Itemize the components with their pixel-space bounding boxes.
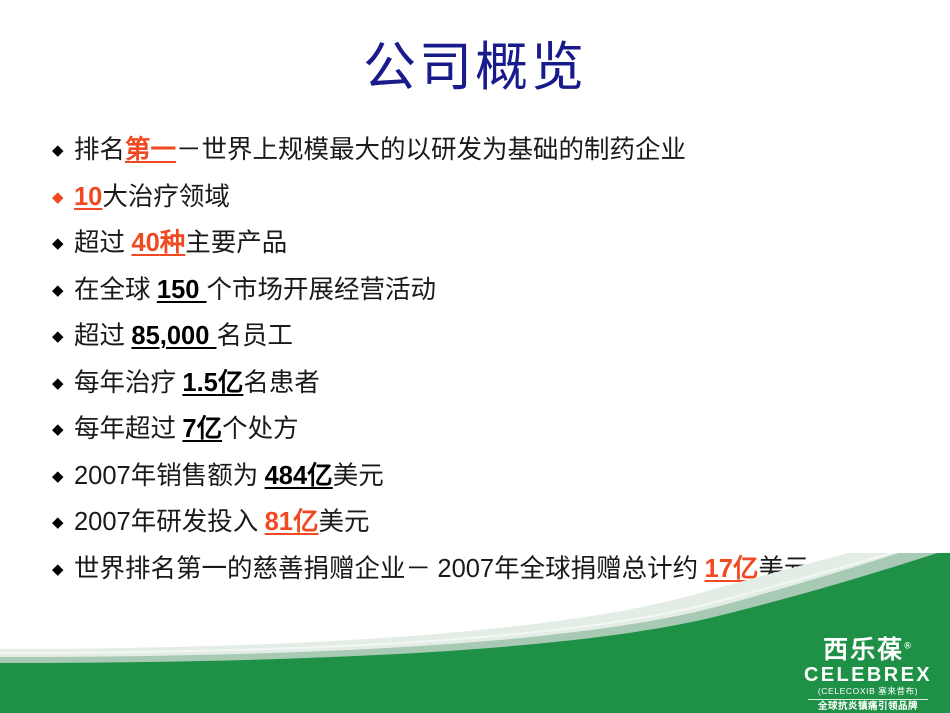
- bullet-segment: 7: [182, 415, 196, 443]
- brand-logo: 西乐葆® CELEBREX (CELECOXIB 塞来昔布) 全球抗炎镇痛引领品…: [792, 635, 944, 709]
- bullet-item: ◆在全球 150 个市场开展经营活动: [52, 273, 912, 307]
- brand-generic-name: (CELECOXIB 塞来昔布): [792, 687, 944, 696]
- bullet-segment: 超过: [74, 321, 131, 350]
- bullet-segment: 亿: [218, 368, 244, 397]
- bullet-item-text: 每年超过 7亿个处方: [74, 412, 912, 446]
- brand-tagline: 全球抗炎镇痛引领品牌: [808, 702, 928, 712]
- bullet-segment: 亿: [733, 554, 759, 583]
- bullet-diamond-icon: ◆: [52, 226, 74, 260]
- bullet-diamond-icon: ◆: [52, 180, 74, 214]
- bullet-item: ◆每年治疗 1.5亿名患者: [52, 366, 912, 400]
- bullet-segment: 2007: [74, 508, 131, 536]
- bullet-diamond-icon: ◆: [52, 273, 74, 307]
- bullet-segment: 世界排名第一的慈善捐赠企业－: [74, 554, 437, 583]
- bullet-item: ◆每年超过 7亿个处方: [52, 412, 912, 446]
- bullet-item-text: 超过 85,000 名员工: [74, 319, 912, 353]
- bullet-diamond-icon: ◆: [52, 366, 74, 400]
- bullet-segment: 17: [705, 555, 733, 583]
- bullet-item-text: 2007年销售额为 484亿美元: [74, 459, 912, 493]
- bullet-segment: 年销售额为: [131, 461, 265, 490]
- bullet-segment: 大治疗领域: [102, 182, 230, 211]
- bullet-segment: 亿: [307, 461, 333, 490]
- presentation-slide: 公司概览 ◆排名第一－世界上规模最大的以研发为基础的制药企业◆10大治疗领域◆超…: [0, 0, 950, 713]
- bullet-diamond-icon: ◆: [52, 459, 74, 493]
- brand-name-en: CELEBREX: [792, 665, 944, 685]
- bullet-segment: 85,000: [131, 322, 216, 350]
- bullet-item-text: 在全球 150 个市场开展经营活动: [74, 273, 912, 307]
- bullet-segment: 种: [160, 228, 186, 257]
- bullet-segment: 排名: [74, 135, 125, 164]
- bullet-segment: 亿: [293, 507, 319, 536]
- bullet-segment: 名员工: [216, 321, 293, 350]
- bullet-item-text: 排名第一－世界上规模最大的以研发为基础的制药企业: [74, 133, 912, 167]
- bullet-list: ◆排名第一－世界上规模最大的以研发为基础的制药企业◆10大治疗领域◆超过 40种…: [52, 133, 912, 598]
- bullet-segment: 美元: [333, 461, 384, 490]
- bullet-segment: 150: [157, 276, 207, 304]
- bullet-segment: 第一: [125, 135, 176, 164]
- bullet-segment: 个市场开展经营活动: [207, 275, 437, 304]
- bullet-item-text: 超过 40种主要产品: [74, 226, 912, 260]
- bullet-segment: 超过: [74, 228, 131, 257]
- bullet-item: ◆世界排名第一的慈善捐赠企业－ 2007年全球捐赠总计约 17亿美元: [52, 552, 912, 586]
- bullet-item: ◆超过 85,000 名员工: [52, 319, 912, 353]
- bullet-segment: 在全球: [74, 275, 157, 304]
- bullet-diamond-icon: ◆: [52, 412, 74, 446]
- bullet-diamond-icon: ◆: [52, 133, 74, 167]
- brand-tagline-container: 全球抗炎镇痛引领品牌: [808, 699, 928, 712]
- bullet-segment: －世界上规模最大的以研发为基础的制药企业: [176, 135, 686, 164]
- bullet-segment: 年研发投入: [131, 507, 265, 536]
- bullet-segment: 10: [74, 183, 102, 211]
- bullet-segment: 81: [265, 508, 293, 536]
- bullet-segment: 亿: [197, 414, 223, 443]
- bullet-segment: 484: [265, 462, 308, 490]
- bullet-diamond-icon: ◆: [52, 552, 74, 586]
- bullet-segment: 美元: [758, 554, 809, 583]
- bullet-segment: 2007: [74, 462, 131, 490]
- bullet-diamond-icon: ◆: [52, 505, 74, 539]
- bullet-item-text: 世界排名第一的慈善捐赠企业－ 2007年全球捐赠总计约 17亿美元: [74, 552, 912, 586]
- bullet-segment: 每年超过: [74, 414, 182, 443]
- bullet-diamond-icon: ◆: [52, 319, 74, 353]
- bullet-segment: 名患者: [243, 368, 320, 397]
- bullet-item-text: 每年治疗 1.5亿名患者: [74, 366, 912, 400]
- bullet-item-text: 2007年研发投入 81亿美元: [74, 505, 912, 539]
- bullet-segment: 2007: [437, 555, 494, 583]
- page-title: 公司概览: [0, 38, 950, 98]
- bullet-segment: 40: [131, 229, 159, 257]
- bullet-item: ◆超过 40种主要产品: [52, 226, 912, 260]
- bullet-item: ◆10大治疗领域: [52, 180, 912, 214]
- bullet-segment: 美元: [319, 507, 370, 536]
- bullet-segment: 个处方: [222, 414, 299, 443]
- bullet-segment: 1.5: [182, 369, 217, 397]
- brand-name-cn-text: 西乐葆: [823, 636, 904, 664]
- bullet-segment: 每年治疗: [74, 368, 182, 397]
- bullet-segment: 年全球捐赠总计约: [494, 554, 704, 583]
- bullet-item-text: 10大治疗领域: [74, 180, 912, 214]
- bullet-item: ◆2007年销售额为 484亿美元: [52, 459, 912, 493]
- brand-name-cn: 西乐葆®: [792, 638, 944, 663]
- bullet-item: ◆排名第一－世界上规模最大的以研发为基础的制药企业: [52, 133, 912, 167]
- bullet-item: ◆2007年研发投入 81亿美元: [52, 505, 912, 539]
- bullet-segment: 主要产品: [185, 228, 287, 257]
- trademark-icon: ®: [904, 641, 913, 651]
